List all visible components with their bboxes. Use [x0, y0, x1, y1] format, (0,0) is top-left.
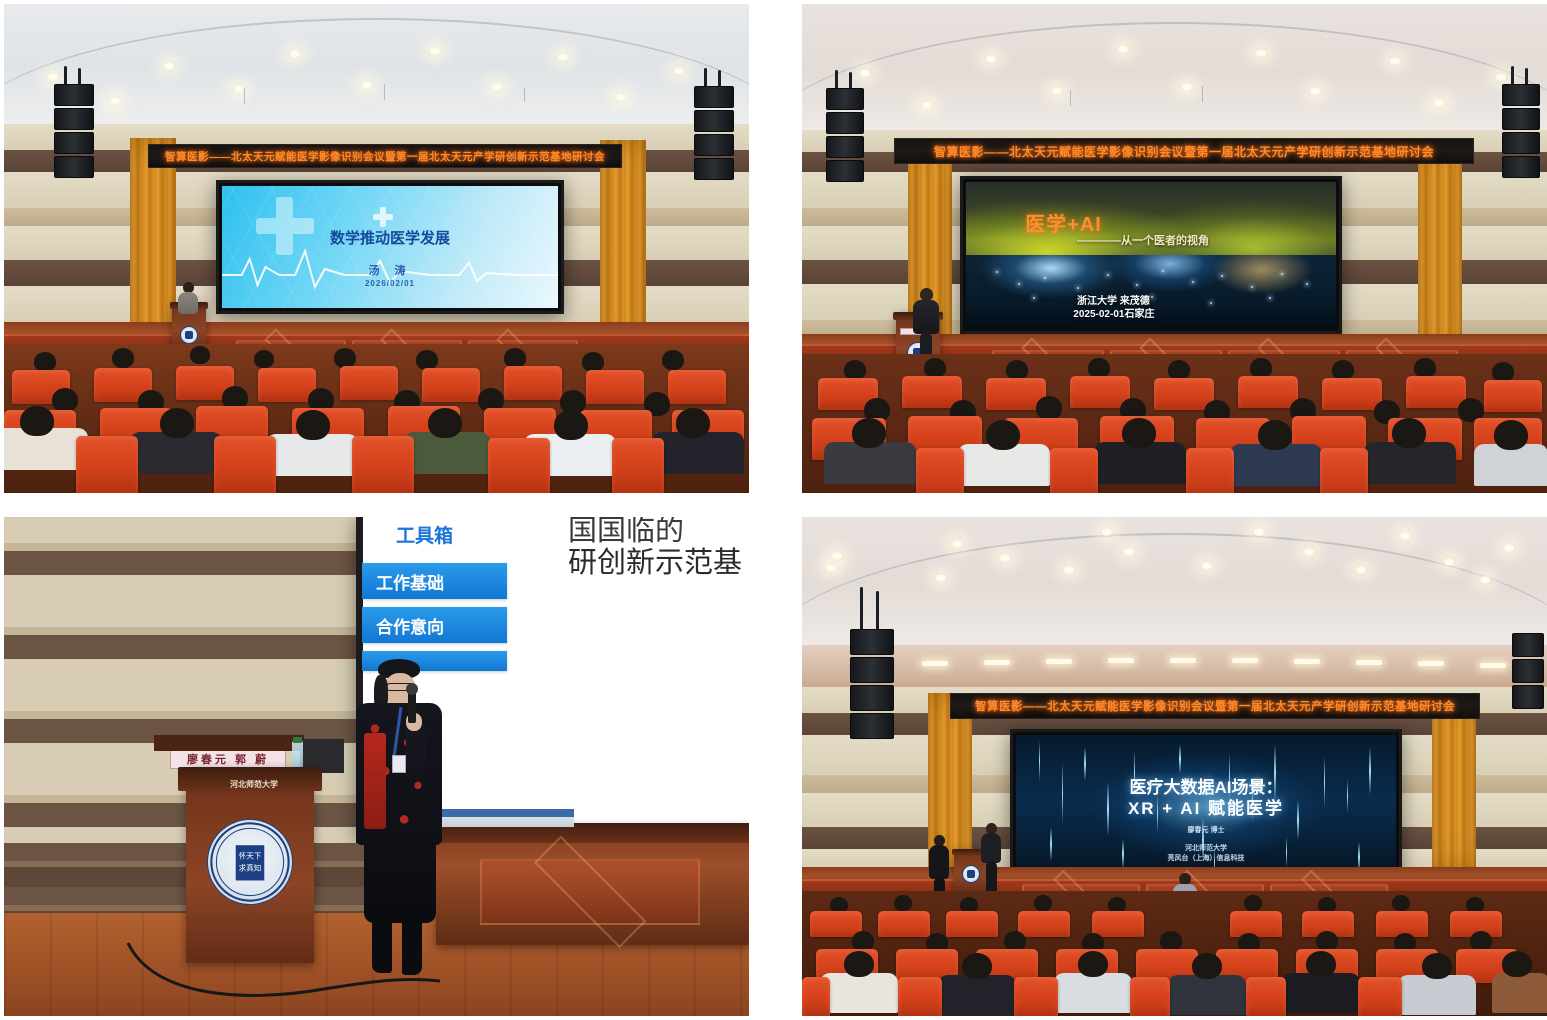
- ceiling-light: [108, 96, 122, 106]
- audience-shoulders: [1398, 975, 1476, 1015]
- ceiling-light: [672, 66, 686, 76]
- ceiling-light: [1432, 98, 1446, 108]
- speaker-person: [176, 282, 200, 312]
- auditorium-seat: [878, 911, 930, 937]
- slide-chip-item: 合作意向: [362, 607, 507, 643]
- auditorium-seat: [916, 448, 964, 493]
- audience-head: [1502, 951, 1532, 977]
- auditorium-seat: [214, 436, 276, 493]
- audience-head: [1422, 953, 1452, 979]
- audience-head: [1250, 358, 1272, 378]
- auditorium-seat: [1230, 911, 1282, 937]
- badge: [392, 755, 406, 773]
- audience-head: [1078, 951, 1108, 977]
- led-banner-text: 智算医影——北太天元赋能医学影像识别会议暨第一届北太天元产学研创新示范基地研讨会: [934, 143, 1434, 160]
- audience-head: [1122, 418, 1156, 448]
- auditorium-seat: [1246, 977, 1286, 1016]
- ceiling-light: [1122, 547, 1136, 557]
- audience-head: [1494, 420, 1528, 450]
- audience-head: [1392, 895, 1410, 911]
- speaker-box: [850, 713, 894, 739]
- auditorium-seat: [668, 370, 726, 404]
- photo-panel-bottom-left[interactable]: 工具箱 工作基础 合作意向 国国临的 研创新示范基 廖春元 郭 蔚: [4, 517, 749, 1016]
- led-banner-text: 智算医影——北太天元赋能医学影像识别会议暨第一届北太天元产学研创新示范基地研讨会: [165, 149, 605, 164]
- speaker-box: [1512, 633, 1544, 657]
- audience-head: [34, 352, 56, 372]
- podium: 怀天下 求真知: [186, 767, 314, 963]
- audience-head: [1160, 931, 1182, 951]
- auditorium-seat: [1092, 911, 1144, 937]
- audience-head: [554, 410, 588, 440]
- audience-head: [1006, 360, 1028, 380]
- ceiling-light: [1354, 565, 1368, 575]
- speaker-box: [54, 84, 94, 106]
- auditorium-seat: [802, 977, 830, 1016]
- university-seal-icon: [180, 326, 198, 344]
- ceiling-light: [858, 68, 872, 78]
- audience-head: [504, 348, 526, 368]
- audience-head: [662, 350, 684, 370]
- screen-content: 医学+AI ————从一个医者的视角 浙江大学 来茂德 2025-02-01石家…: [966, 182, 1336, 328]
- aurora-sky: [966, 182, 1336, 264]
- seal-inner: [185, 331, 193, 339]
- auditorium-seat: [488, 438, 550, 493]
- auditorium-seat: [1322, 378, 1382, 410]
- speaker-rod: [876, 591, 879, 631]
- ceiling-light: [1254, 48, 1268, 58]
- audience-shoulders: [130, 432, 222, 474]
- speaker-box: [1502, 84, 1540, 106]
- ceiling-light: [1050, 86, 1064, 96]
- audience-head: [1036, 396, 1062, 420]
- stage-curtain-right: [600, 140, 646, 346]
- speaker-box: [826, 136, 864, 158]
- auditorium-seat: [898, 977, 942, 1016]
- ceiling-light: [950, 539, 964, 549]
- speaker-box: [1502, 132, 1540, 154]
- person-legs: [986, 861, 997, 893]
- speaker-box: [1502, 156, 1540, 178]
- audience-head: [416, 350, 438, 370]
- speaker-box: [850, 685, 894, 711]
- hanging-rod: [524, 88, 525, 102]
- university-seal-icon: 怀天下 求真知: [207, 819, 293, 905]
- screen-content: 数学推动医学发展 汤 涛 2026/02/01: [222, 186, 558, 308]
- line-array-speaker-left: [54, 82, 94, 188]
- speaker-person: [980, 823, 1002, 895]
- auditorium-seat: [586, 370, 644, 404]
- audience-shoulders: [938, 975, 1016, 1015]
- auditorium-seat: [422, 368, 480, 402]
- audience-head: [334, 348, 356, 368]
- audience-head: [676, 408, 710, 438]
- ceiling-light: [288, 49, 302, 59]
- audience-head: [1258, 420, 1292, 450]
- auditorium-seat: [1358, 977, 1402, 1016]
- audience-head: [1392, 418, 1426, 448]
- auditorium-seat: [76, 436, 138, 493]
- ceiling-light: [360, 80, 374, 90]
- slide-place-date: 2025-02-01石家庄: [1073, 305, 1154, 320]
- auditorium-seat: [504, 366, 562, 400]
- audience-head: [894, 895, 912, 911]
- audience-head: [844, 951, 874, 977]
- ceiling-light: [556, 52, 570, 62]
- audience-area: [802, 891, 1547, 1016]
- photo-collage: 智算医影——北太天元赋能医学影像识别会议暨第一届北太天元产学研创新示范基地研讨会…: [0, 0, 1547, 1020]
- auditorium-seat: [946, 911, 998, 937]
- strip-light: [1108, 658, 1134, 663]
- line-array-speaker-left: [850, 625, 894, 749]
- hanging-rod: [1202, 86, 1203, 102]
- audience-head: [1168, 360, 1190, 380]
- audience-head: [254, 350, 274, 368]
- slide-particle-tunnel: 医疗大数据AI场景： XR + AI 赋能医学 廖春元 博士 河北师范大学 亮风…: [1016, 735, 1396, 883]
- auditorium-seat: [1186, 448, 1234, 493]
- hanging-rod: [244, 88, 245, 104]
- line-array-speaker-left: [826, 86, 864, 190]
- person-body: [178, 292, 198, 314]
- audience-head: [428, 408, 462, 438]
- stage-curtain-right: [1418, 144, 1462, 350]
- microphone-head: [406, 683, 418, 695]
- person-body: [981, 833, 1001, 863]
- audience-head: [1004, 931, 1026, 951]
- strip-light: [1170, 658, 1196, 663]
- strip-light: [1294, 659, 1320, 664]
- speaker-box: [694, 158, 734, 180]
- speaker-box: [826, 88, 864, 110]
- led-banner: 智算医影——北太天元赋能医学影像识别会议暨第一届北太天元产学研创新示范基地研讨会: [950, 693, 1480, 719]
- strip-light: [1046, 659, 1072, 664]
- audience-shoulders: [1282, 973, 1360, 1013]
- ceiling-light: [1180, 82, 1194, 92]
- ceiling-light: [1302, 547, 1316, 557]
- ceiling-light: [824, 563, 838, 573]
- slide-title: 数学推动医学发展: [222, 227, 558, 248]
- lectern-table: [436, 823, 749, 945]
- speaker-box: [54, 156, 94, 178]
- audience-head: [1316, 931, 1338, 951]
- speaker-box: [826, 160, 864, 182]
- podium-nameplate: 廖春元 郭 蔚: [170, 749, 286, 769]
- audience-shoulders: [1474, 444, 1547, 486]
- audience-head: [852, 418, 886, 448]
- ceiling-light: [1062, 565, 1076, 575]
- auditorium-seat: [1406, 376, 1466, 408]
- audience-head: [986, 420, 1020, 450]
- seal-inner: [967, 870, 975, 878]
- svg-text:求真知: 求真知: [239, 862, 262, 872]
- audience-shoulders: [820, 973, 898, 1013]
- ceiling-soffit: [802, 645, 1547, 689]
- ceiling-light: [1100, 527, 1114, 537]
- auditorium-scene-2: 智算医影——北太天元赋能医学影像识别会议暨第一届北太天元产学研创新示范基地研讨会: [802, 4, 1547, 493]
- ceiling-light: [984, 54, 998, 64]
- screen-content: 医疗大数据AI场景： XR + AI 赋能医学 廖春元 博士 河北师范大学 亮风…: [1016, 735, 1396, 883]
- slide-title-line2: XR + AI 赋能医学: [1016, 794, 1396, 819]
- audience-shoulders: [1230, 444, 1322, 486]
- table-edge: [154, 735, 304, 751]
- slide-title: 工具箱: [396, 521, 453, 548]
- speaker-box: [850, 629, 894, 655]
- ceiling-light: [1442, 557, 1456, 567]
- slide-presenter: 廖春元 博士: [1016, 825, 1396, 835]
- audience-head: [190, 346, 210, 364]
- audience-head: [1492, 362, 1514, 382]
- slide-org-1: 河北师范大学: [1016, 843, 1396, 853]
- podium-logo-cn: 河北师范大学: [230, 779, 278, 790]
- audience-shoulders: [404, 432, 490, 474]
- audience-shoulders: [824, 442, 916, 484]
- person-body: [929, 845, 949, 879]
- slide-date: 2026/02/01: [222, 279, 558, 288]
- auditorium-seat: [1320, 448, 1368, 493]
- stage-curtain-left: [130, 138, 176, 352]
- ceiling-light: [934, 573, 948, 583]
- university-seal-icon: [962, 865, 980, 883]
- audience-area: [4, 344, 749, 493]
- ceiling-light: [1494, 72, 1508, 82]
- strip-light: [1356, 660, 1382, 665]
- slide-side-text-main: 研创新示范基: [568, 539, 742, 581]
- slide-aurora-night-city: 医学+AI ————从一个医者的视角 浙江大学 来茂德 2025-02-01石家…: [966, 182, 1336, 328]
- slide-subtitle: ————从一个医者的视角: [1077, 232, 1209, 248]
- photo-panel-bottom-right[interactable]: 智算医影——北太天元赋能医学影像识别会议暨第一届北太天元产学研创新示范基地研讨会: [802, 517, 1547, 1016]
- audience-head: [1088, 358, 1110, 378]
- led-banner-text: 智算医影——北太天元赋能医学影像识别会议暨第一届北太天元产学研创新示范基地研讨会: [975, 698, 1455, 714]
- audience-shoulders: [1168, 975, 1246, 1015]
- floor-cable: [124, 937, 444, 1007]
- photo-panel-top-left[interactable]: 智算医影——北太天元赋能医学影像识别会议暨第一届北太天元产学研创新示范基地研讨会…: [4, 4, 749, 493]
- ceiling-light: [998, 553, 1012, 563]
- hanging-rod: [384, 84, 385, 100]
- seal-graphic: 怀天下 求真知: [208, 819, 292, 905]
- ceiling-light: [428, 46, 442, 56]
- lectern-panel: [480, 859, 700, 925]
- audience-head: [1306, 951, 1336, 977]
- auditorium-seat: [1238, 376, 1298, 408]
- ceiling-light: [1200, 561, 1214, 571]
- auditorium-seat: [1484, 380, 1542, 412]
- line-array-speaker-right: [1512, 629, 1544, 739]
- audience-head: [1414, 358, 1436, 378]
- lecture-stage-scene: 工具箱 工作基础 合作意向 国国临的 研创新示范基 廖春元 郭 蔚: [4, 517, 749, 1016]
- speaker-box: [826, 112, 864, 134]
- auditorium-scene-4: 智算医影——北太天元赋能医学影像识别会议暨第一届北太天元产学研创新示范基地研讨会: [802, 517, 1547, 1016]
- speaker-rod: [860, 587, 863, 631]
- ceiling-light: [1388, 56, 1402, 66]
- photo-panel-top-right[interactable]: 智算医影——北太天元赋能医学影像识别会议暨第一届北太天元产学研创新示范基地研讨会: [802, 4, 1547, 493]
- audience-head: [962, 953, 992, 979]
- slide-author: 汤 涛: [222, 262, 558, 278]
- medical-cross-icon: [373, 207, 393, 227]
- auditorium-seat: [340, 366, 398, 400]
- projection-screen: 医学+AI ————从一个医者的视角 浙江大学 来茂德 2025-02-01石家…: [960, 176, 1342, 334]
- speaker-box: [694, 110, 734, 132]
- audience-shoulders: [266, 434, 358, 476]
- person-skirt: [364, 837, 436, 923]
- speaker-box: [1512, 659, 1544, 683]
- speaker-box: [694, 86, 734, 108]
- line-array-speaker-right: [694, 84, 734, 190]
- projection-screen: 医疗大数据AI场景： XR + AI 赋能医学 廖春元 博士 河北师范大学 亮风…: [1010, 729, 1402, 889]
- projection-screen: 数学推动医学发展 汤 涛 2026/02/01: [216, 180, 564, 314]
- strip-light: [1232, 658, 1258, 663]
- auditorium-seat: [1018, 911, 1070, 937]
- svg-text:怀天下: 怀天下: [239, 851, 262, 861]
- ceiling-light: [830, 551, 844, 561]
- audience-head: [20, 406, 54, 436]
- audience-head: [844, 360, 866, 380]
- ceiling-light: [614, 92, 628, 102]
- person-body: [913, 300, 939, 334]
- speaker-box: [694, 134, 734, 156]
- slide-chip-item: 工作基础: [362, 563, 507, 599]
- audience-head: [1332, 360, 1354, 380]
- audience-shoulders: [1492, 973, 1547, 1013]
- slide-medical-blue: 数学推动医学发展 汤 涛 2026/02/01: [222, 186, 558, 308]
- auditorium-seat: [352, 436, 414, 493]
- red-scarf: [364, 733, 386, 829]
- ceiling-light: [1308, 86, 1322, 96]
- ceiling-light: [1478, 575, 1492, 585]
- hanging-rod: [1070, 90, 1071, 106]
- ceiling-light: [920, 100, 934, 110]
- strip-light: [922, 661, 948, 666]
- ceiling-light: [1116, 44, 1130, 54]
- auditorium-scene-1: 智算医影——北太天元赋能医学影像识别会议暨第一届北太天元产学研创新示范基地研讨会…: [4, 4, 749, 493]
- line-array-speaker-right: [1502, 82, 1540, 186]
- strip-light: [1418, 661, 1444, 666]
- ceiling-light: [1398, 531, 1412, 541]
- auditorium-seat: [1050, 448, 1098, 493]
- speaker-box: [54, 108, 94, 130]
- ceiling-light: [46, 72, 60, 82]
- audience-head: [1034, 895, 1052, 911]
- audience-head: [1470, 931, 1492, 951]
- audience-shoulders: [958, 444, 1050, 486]
- stage-curtain-right: [1432, 693, 1476, 869]
- ceiling-light: [1502, 543, 1516, 553]
- slide-org-2: 亮风台（上海）信息科技: [1016, 853, 1396, 863]
- audience-head: [1192, 953, 1222, 979]
- table-banner: [440, 809, 574, 817]
- audience-shoulders: [652, 432, 744, 474]
- auditorium-seat: [612, 438, 664, 493]
- audience-shoulders: [1094, 442, 1186, 484]
- led-banner: 智算医影——北太天元赋能医学影像识别会议暨第一届北太天元产学研创新示范基地研讨会: [894, 138, 1474, 164]
- audience-shoulders: [1054, 973, 1132, 1013]
- audience-head: [924, 358, 946, 378]
- audience-head: [160, 408, 194, 438]
- audience-area: [802, 354, 1547, 493]
- audience-shoulders: [1364, 442, 1456, 484]
- bottle-cap: [293, 737, 302, 743]
- audience-head: [296, 410, 330, 440]
- diamond-motif: [534, 836, 647, 949]
- speaker-box: [1512, 685, 1544, 709]
- ceiling-light: [490, 82, 504, 92]
- strip-light: [1480, 663, 1506, 668]
- speaker-box: [850, 657, 894, 683]
- auditorium-seat: [1130, 977, 1170, 1016]
- audience-head: [852, 931, 874, 951]
- led-banner: 智算医影——北太天元赋能医学影像识别会议暨第一届北太天元产学研创新示范基地研讨会: [148, 144, 622, 168]
- auditorium-seat: [1014, 977, 1058, 1016]
- audience-head: [112, 348, 134, 368]
- audience-head: [52, 388, 78, 412]
- ceiling-light: [162, 61, 176, 71]
- audience-head: [1244, 895, 1262, 911]
- speaker-box: [54, 132, 94, 154]
- speaker-box: [1502, 108, 1540, 130]
- audience-head: [582, 352, 604, 372]
- ceiling-light: [1252, 527, 1266, 537]
- strip-light: [984, 660, 1010, 665]
- podium-university-logo: 河北师范大学: [230, 779, 278, 790]
